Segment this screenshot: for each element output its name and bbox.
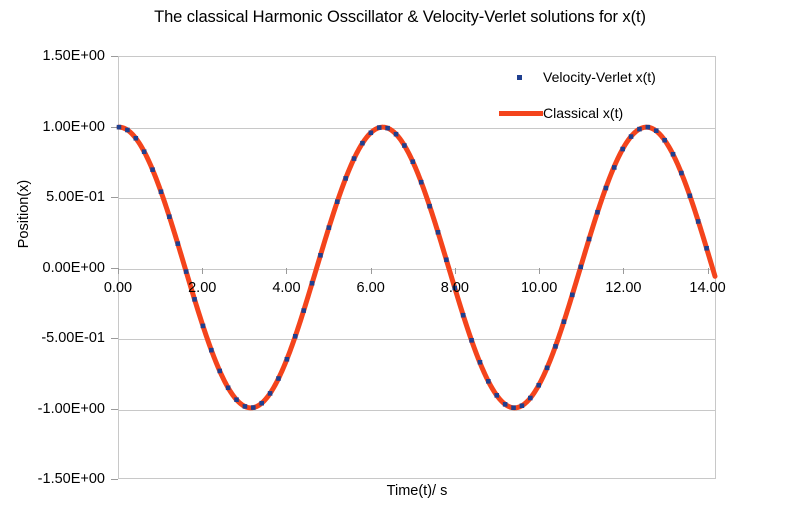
- data-point-marker: [528, 396, 533, 401]
- data-point-marker: [285, 357, 290, 362]
- data-point-marker: [276, 376, 281, 381]
- data-point-marker: [562, 319, 567, 324]
- y-axis-tick-label: 1.00E+00: [43, 120, 106, 134]
- data-point-marker: [335, 199, 340, 204]
- data-point-marker: [142, 149, 147, 154]
- y-axis-tick-group: 1.50E+001.00E+005.00E-010.00E+00-5.00E-0…: [0, 56, 118, 479]
- x-axis-tick-label: 14.00: [689, 281, 725, 295]
- x-axis-title: Time(t)/ s: [118, 483, 716, 499]
- data-point-marker: [662, 138, 667, 143]
- data-point-marker: [444, 257, 449, 262]
- data-point-marker: [385, 126, 390, 131]
- data-point-marker: [318, 253, 323, 258]
- data-point-marker: [117, 125, 122, 130]
- chart-container: The classical Harmonic Osscillator & Vel…: [0, 0, 800, 507]
- x-axis-tick-label: 4.00: [272, 281, 300, 295]
- data-point-marker: [150, 167, 155, 172]
- data-point-marker: [201, 324, 206, 329]
- x-axis-tick-label: 12.00: [605, 281, 641, 295]
- x-axis-tick-mark: [286, 268, 287, 274]
- data-point-marker: [520, 403, 525, 408]
- data-point-marker: [461, 313, 466, 318]
- x-axis-tick-mark: [455, 268, 456, 274]
- data-point-marker: [595, 210, 600, 215]
- data-point-marker: [167, 214, 172, 219]
- x-axis-tick-mark: [371, 268, 372, 274]
- data-point-marker: [637, 127, 642, 132]
- data-point-marker: [688, 194, 693, 199]
- data-point-marker: [545, 366, 550, 371]
- data-point-marker: [125, 128, 130, 133]
- data-point-marker: [343, 176, 348, 181]
- data-point-marker: [360, 141, 365, 146]
- y-axis-tick-mark: [111, 197, 118, 198]
- legend-label-classical: Classical x(t): [543, 106, 623, 120]
- x-axis-tick-mark: [118, 268, 119, 274]
- y-axis-tick-mark: [111, 338, 118, 339]
- data-point-marker: [251, 405, 256, 410]
- y-axis-tick-mark: [111, 56, 118, 57]
- x-axis-tick-group: 0.002.004.006.008.0010.0012.0014.00: [118, 268, 716, 302]
- legend-marker-line-icon: [497, 103, 543, 123]
- x-axis-tick-mark: [202, 268, 203, 274]
- data-point-marker: [217, 369, 222, 374]
- data-point-marker: [402, 143, 407, 148]
- data-point-marker: [654, 128, 659, 133]
- chart-legend: Velocity-Verlet x(t) Classical x(t): [497, 64, 713, 126]
- x-axis-tick-label: 0.00: [104, 281, 132, 295]
- data-point-marker: [478, 360, 483, 365]
- legend-item-classical: Classical x(t): [497, 100, 623, 126]
- data-point-marker: [696, 219, 701, 224]
- data-point-marker: [293, 334, 298, 339]
- data-point-marker: [587, 237, 592, 242]
- data-point-marker: [427, 204, 432, 209]
- data-point-marker: [369, 130, 374, 135]
- data-point-marker: [411, 159, 416, 164]
- legend-label-velocity-verlet: Velocity-Verlet x(t): [543, 70, 656, 84]
- data-point-marker: [436, 230, 441, 235]
- y-axis-tick-label: -1.00E+00: [38, 402, 105, 416]
- data-point-marker: [259, 401, 264, 406]
- y-axis-tick-label: -1.50E+00: [38, 472, 105, 486]
- data-point-marker: [494, 393, 499, 398]
- data-point-marker: [503, 402, 508, 407]
- data-point-marker: [536, 383, 541, 388]
- data-point-marker: [612, 165, 617, 170]
- x-axis-tick-label: 8.00: [441, 281, 469, 295]
- x-axis-tick-label: 2.00: [188, 281, 216, 295]
- data-point-marker: [327, 225, 332, 230]
- data-point-marker: [134, 136, 139, 141]
- data-point-marker: [486, 379, 491, 384]
- y-axis-tick-label: 5.00E-01: [46, 190, 105, 204]
- data-point-marker: [159, 189, 164, 194]
- data-point-marker: [511, 405, 516, 410]
- data-point-marker: [243, 404, 248, 409]
- data-point-marker: [301, 308, 306, 313]
- y-axis-tick-label: 1.50E+00: [43, 49, 106, 63]
- x-axis-tick-mark: [539, 268, 540, 274]
- data-point-marker: [419, 180, 424, 185]
- y-axis-tick-mark: [111, 409, 118, 410]
- x-axis-tick-label: 10.00: [521, 281, 557, 295]
- x-axis-tick-label: 6.00: [357, 281, 385, 295]
- data-point-marker: [394, 132, 399, 137]
- data-point-marker: [469, 338, 474, 343]
- data-point-marker: [620, 147, 625, 152]
- legend-marker-square-icon: [497, 67, 543, 87]
- data-point-marker: [629, 134, 634, 139]
- data-point-marker: [352, 156, 357, 161]
- x-axis-tick-mark: [708, 268, 709, 274]
- data-point-marker: [209, 348, 214, 353]
- data-point-marker: [268, 391, 273, 396]
- data-point-marker: [679, 171, 684, 176]
- chart-title: The classical Harmonic Osscillator & Vel…: [0, 7, 800, 27]
- legend-item-velocity-verlet: Velocity-Verlet x(t): [497, 64, 656, 90]
- data-point-marker: [234, 397, 239, 402]
- data-point-marker: [553, 344, 558, 349]
- data-point-marker: [226, 385, 231, 390]
- y-axis-tick-label: 0.00E+00: [43, 261, 106, 275]
- data-point-marker: [704, 246, 709, 251]
- x-axis-tick-mark: [623, 268, 624, 274]
- data-point-marker: [175, 241, 180, 246]
- data-point-marker: [671, 152, 676, 157]
- y-axis-tick-label: -5.00E-01: [41, 331, 105, 345]
- y-axis-tick-mark: [111, 479, 118, 480]
- data-point-marker: [377, 125, 382, 130]
- y-axis-tick-mark: [111, 268, 118, 269]
- data-point-marker: [604, 186, 609, 191]
